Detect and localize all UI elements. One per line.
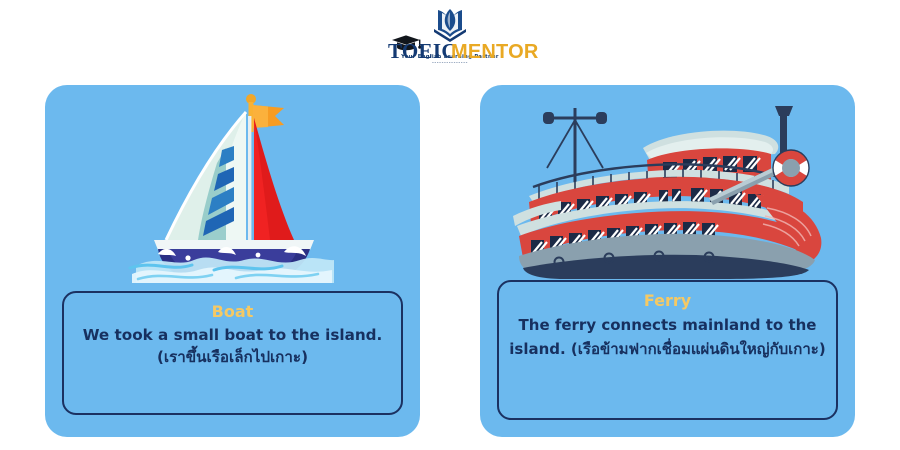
sailboat-illustration: [45, 85, 420, 285]
vocabulary-card-ferry[interactable]: Ferry The ferry connects mainland to the…: [480, 85, 855, 437]
ferry-term: Ferry: [509, 290, 826, 312]
vocabulary-card-grid: Boat We took a small boat to the island.…: [0, 85, 900, 437]
ferry-ship-illustration: [480, 85, 855, 285]
water-waves: [130, 246, 334, 283]
vocabulary-card-boat[interactable]: Boat We took a small boat to the island.…: [45, 85, 420, 437]
ferry-sentence: The ferry connects mainland to the islan…: [509, 313, 826, 361]
boat-term: Boat: [74, 301, 391, 323]
logo-text-mentor: MENTOR: [451, 41, 539, 63]
logo-text-toeic: TOEIC: [388, 40, 457, 63]
life-ring-icon: [773, 150, 809, 186]
boat-sentence-en: We took a small boat to the island.: [74, 324, 391, 346]
boat-sentence-th: (เราขึ้นเรือเล็กไปเกาะ): [74, 346, 391, 368]
ferry-textbox: Ferry The ferry connects mainland to the…: [497, 280, 838, 420]
brand-logo: TOEIC MENTOR Your English Learning Partn…: [0, 8, 900, 80]
logo-mark: TOEIC MENTOR: [360, 8, 540, 56]
boat-textbox: Boat We took a small boat to the island.…: [62, 291, 403, 415]
